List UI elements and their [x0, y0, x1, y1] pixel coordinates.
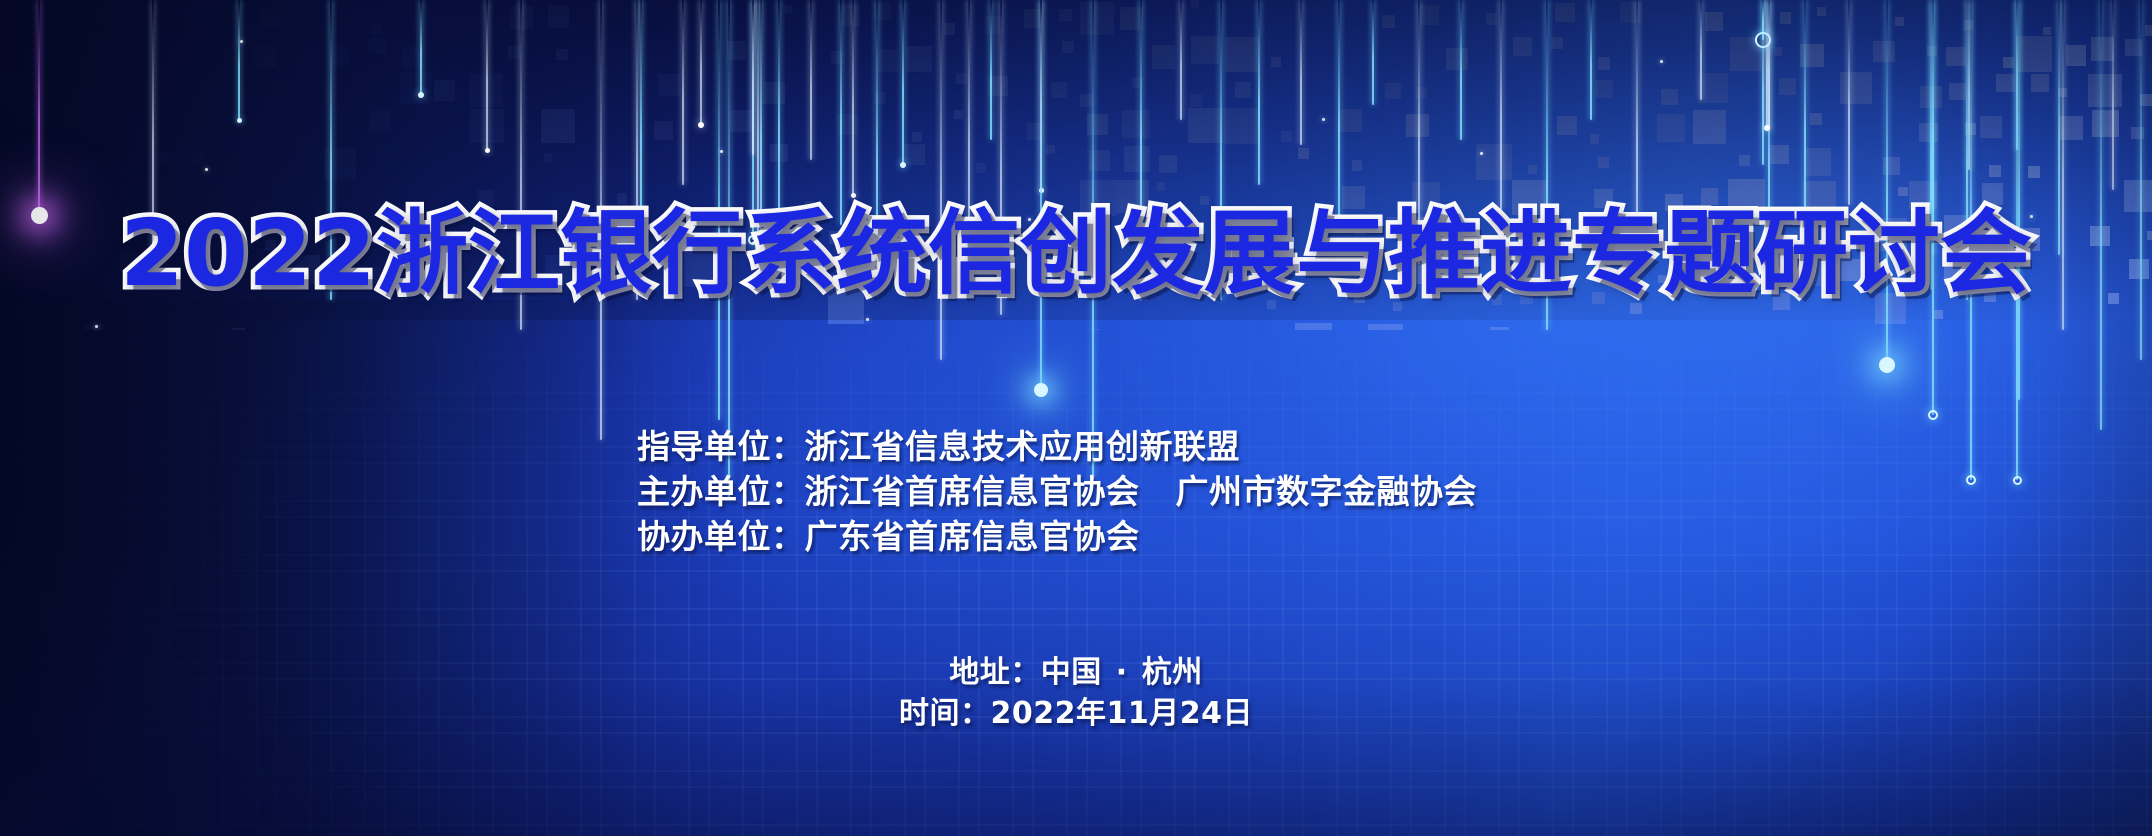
- banner-title: 2022浙江银行系统信创发展与推进专题研讨会: [120, 208, 2032, 300]
- venue-block: 地址：中国·杭州 时间：2022年11月24日: [0, 652, 2152, 734]
- venue-time-line: 时间：2022年11月24日: [0, 693, 2152, 734]
- banner-title-container: 2022浙江银行系统信创发展与推进专题研讨会: [0, 208, 2152, 300]
- organizer-line-cohost: 协办单位：广东省首席信息官协会: [637, 514, 1477, 559]
- venue-address-label: 地址：: [949, 655, 1041, 690]
- venue-address-line: 地址：中国·杭州: [0, 652, 2152, 693]
- venue-address-city: 杭州: [1142, 655, 1203, 690]
- conference-banner: 2022浙江银行系统信创发展与推进专题研讨会 指导单位：浙江省信息技术应用创新联…: [0, 0, 2152, 836]
- organizer-value-cohost: 广东省首席信息官协会: [805, 517, 1140, 556]
- organizer-value-host-2: 广州市数字金融协会: [1176, 472, 1478, 511]
- organizer-line-host: 主办单位：浙江省首席信息官协会广州市数字金融协会: [637, 469, 1477, 514]
- organizer-label-host: 主办单位：: [637, 472, 805, 511]
- organizer-value-guidance: 浙江省信息技术应用创新联盟: [805, 427, 1241, 466]
- organizer-block: 指导单位：浙江省信息技术应用创新联盟 主办单位：浙江省首席信息官协会广州市数字金…: [637, 424, 1477, 559]
- venue-time-value: 2022年11月24日: [991, 696, 1254, 731]
- organizer-label-cohost: 协办单位：: [637, 517, 805, 556]
- organizer-line-guidance: 指导单位：浙江省信息技术应用创新联盟: [637, 424, 1477, 469]
- venue-address-separator: ·: [1102, 652, 1142, 693]
- venue-address-country: 中国: [1041, 655, 1102, 690]
- venue-time-label: 时间：: [899, 696, 991, 731]
- organizer-value-host: 浙江省首席信息官协会: [805, 472, 1140, 511]
- organizer-label-guidance: 指导单位：: [637, 427, 805, 466]
